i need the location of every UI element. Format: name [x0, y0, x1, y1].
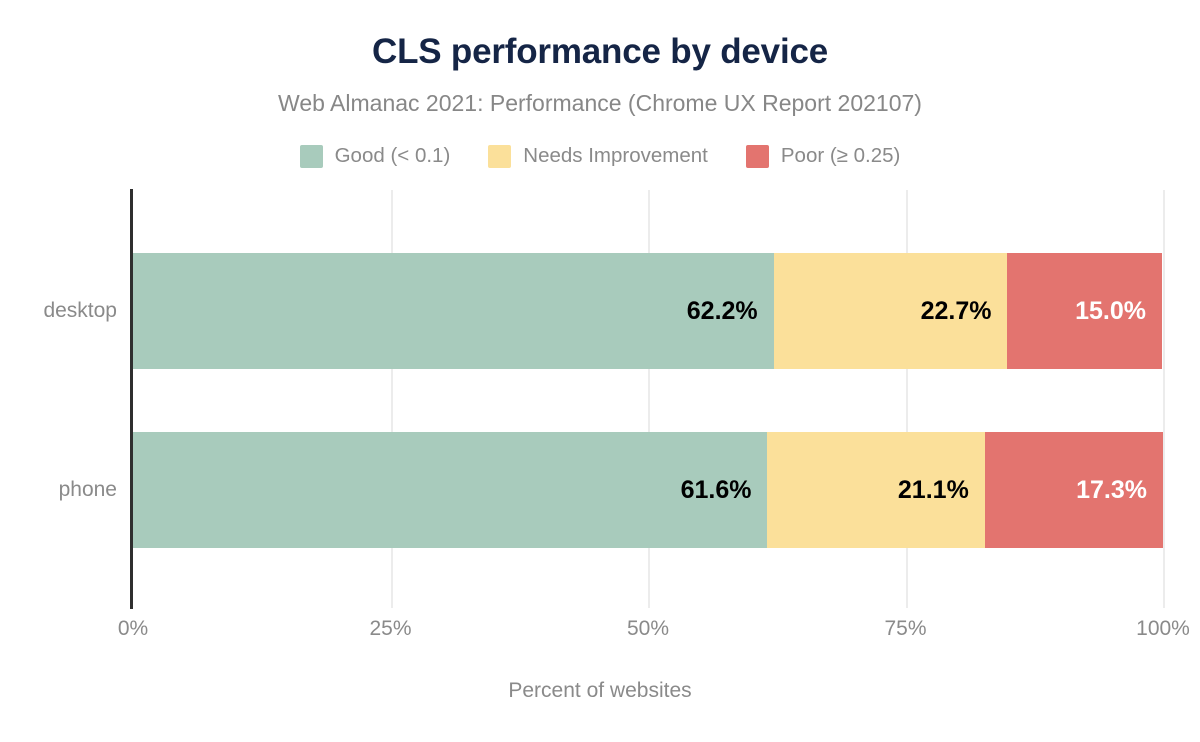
bar-value-label: 61.6% [681, 475, 768, 505]
legend-swatch-needs-improvement-icon [488, 145, 511, 168]
bar-segment-desktop-2[interactable]: 15.0% [1007, 253, 1162, 369]
bar-segment-phone-2[interactable]: 17.3% [985, 432, 1163, 548]
gridline-100 [1163, 190, 1165, 608]
bar-segment-phone-1[interactable]: 21.1% [767, 432, 984, 548]
bar-value-label: 21.1% [898, 475, 985, 505]
legend-item-good[interactable]: Good (< 0.1) [300, 144, 451, 168]
bar-segment-desktop-0[interactable]: 62.2% [133, 253, 774, 369]
bar-value-label: 15.0% [1075, 296, 1162, 326]
x-tick-label-0: 0% [73, 616, 193, 642]
legend-label-poor: Poor (≥ 0.25) [781, 144, 901, 168]
bar-value-label: 22.7% [921, 296, 1008, 326]
legend-label-good: Good (< 0.1) [335, 144, 451, 168]
y-tick-label-phone: phone [0, 477, 117, 503]
chart-container: CLS performance by device Web Almanac 20… [0, 0, 1200, 742]
x-tick-label-75: 75% [846, 616, 966, 642]
x-axis-title: Percent of websites [0, 678, 1200, 704]
x-tick-label-25: 25% [331, 616, 451, 642]
x-tick-label-50: 50% [588, 616, 708, 642]
bar-row-phone: 61.6%21.1%17.3% [133, 432, 1163, 548]
chart-legend: Good (< 0.1) Needs Improvement Poor (≥ 0… [0, 140, 1200, 172]
bar-segment-desktop-1[interactable]: 22.7% [774, 253, 1008, 369]
y-tick-label-desktop: desktop [0, 298, 117, 324]
legend-item-needs-improvement[interactable]: Needs Improvement [488, 144, 708, 168]
bar-row-desktop: 62.2%22.7%15.0% [133, 253, 1163, 369]
chart-title: CLS performance by device [0, 31, 1200, 73]
legend-swatch-good-icon [300, 145, 323, 168]
legend-label-needs-improvement: Needs Improvement [523, 144, 708, 168]
bar-value-label: 17.3% [1076, 475, 1163, 505]
bar-segment-phone-0[interactable]: 61.6% [133, 432, 767, 548]
x-tick-label-100: 100% [1103, 616, 1200, 642]
plot-area: 62.2%22.7%15.0%61.6%21.1%17.3% [133, 190, 1163, 608]
bar-value-label: 62.2% [687, 296, 774, 326]
legend-swatch-poor-icon [746, 145, 769, 168]
legend-item-poor[interactable]: Poor (≥ 0.25) [746, 144, 901, 168]
chart-subtitle: Web Almanac 2021: Performance (Chrome UX… [0, 88, 1200, 118]
